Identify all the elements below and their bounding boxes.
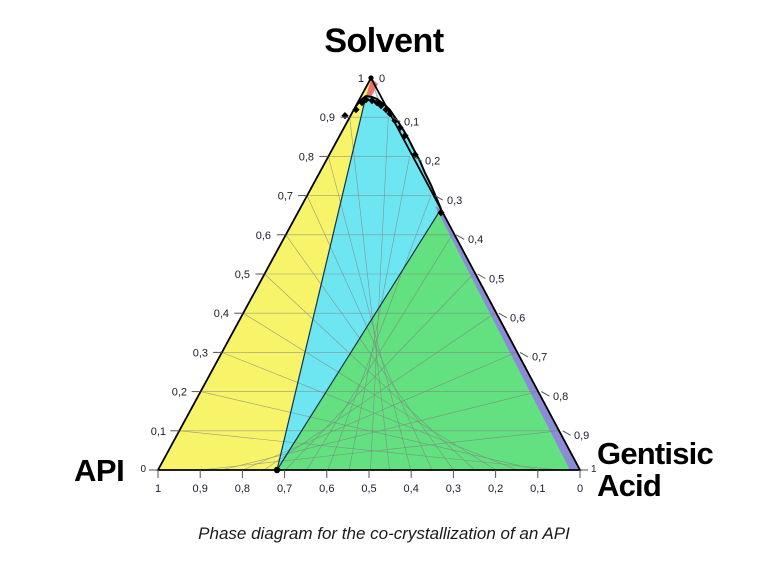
- figure-caption: Phase diagram for the co-crystallization…: [0, 524, 768, 544]
- left-tick-label: 0,8: [299, 151, 314, 163]
- apex-left-value: 1: [358, 73, 364, 85]
- left-vertex-upper-value: 0: [140, 464, 146, 475]
- right-tick-label: 0,1: [404, 117, 419, 129]
- right-tick-label: 0,8: [553, 391, 568, 403]
- left-tick-label: 0,7: [278, 191, 293, 203]
- right-tick-label: 0,2: [425, 156, 440, 168]
- left-tick-label: 0,4: [214, 308, 229, 320]
- vertex-label-solvent: Solvent: [0, 24, 768, 59]
- bottom-tick-label: 0,1: [530, 483, 545, 495]
- right-tick-label: 0,3: [447, 195, 462, 207]
- bottom-tick-label: 1: [155, 483, 161, 495]
- vertex-label-api: API: [74, 455, 124, 487]
- apex-node: [368, 75, 373, 80]
- apex-right-value: 0: [379, 73, 385, 85]
- left-tick-label: 0,9: [320, 112, 335, 124]
- vertex-label-gentisic-acid: Gentisic Acid: [597, 438, 713, 501]
- bottom-tick-label: 0,3: [446, 483, 461, 495]
- left-tick-label: 0,5: [235, 269, 250, 281]
- ternary-phase-diagram-figure: 0,1 0,2 0,3 0,4 0,5 0,6 0,7 0,8 0,9 0 0,…: [0, 0, 768, 576]
- right-tick-label: 0,6: [510, 313, 525, 325]
- left-tick-label: 0,3: [193, 347, 208, 359]
- left-tick-label: 0,1: [151, 426, 166, 438]
- right-tick-label: 0,4: [468, 234, 483, 246]
- bottom-tick-label: 0,6: [319, 483, 334, 495]
- right-tick-label: 0,9: [574, 430, 589, 442]
- bottom-tick-label: 0,7: [277, 483, 292, 495]
- left-tick-label: 0,6: [256, 230, 271, 242]
- invariant-point: [274, 467, 280, 473]
- bottom-axis-tick-labels: 1 0,9 0,8 0,7 0,6 0,5 0,4 0,3 0,2 0,1 0: [155, 483, 583, 495]
- bottom-tick-label: 0: [577, 483, 583, 495]
- bottom-tick-label: 0,4: [404, 483, 419, 495]
- left-tick-label: 0,2: [172, 387, 187, 399]
- bottom-tick-label: 0,9: [193, 483, 208, 495]
- bottom-tick-label: 0,8: [235, 483, 250, 495]
- bottom-tick-label: 0,5: [361, 483, 376, 495]
- right-tick-label: 0,5: [489, 273, 504, 285]
- right-tick-label: 0,7: [532, 352, 547, 364]
- bottom-tick-label: 0,2: [488, 483, 503, 495]
